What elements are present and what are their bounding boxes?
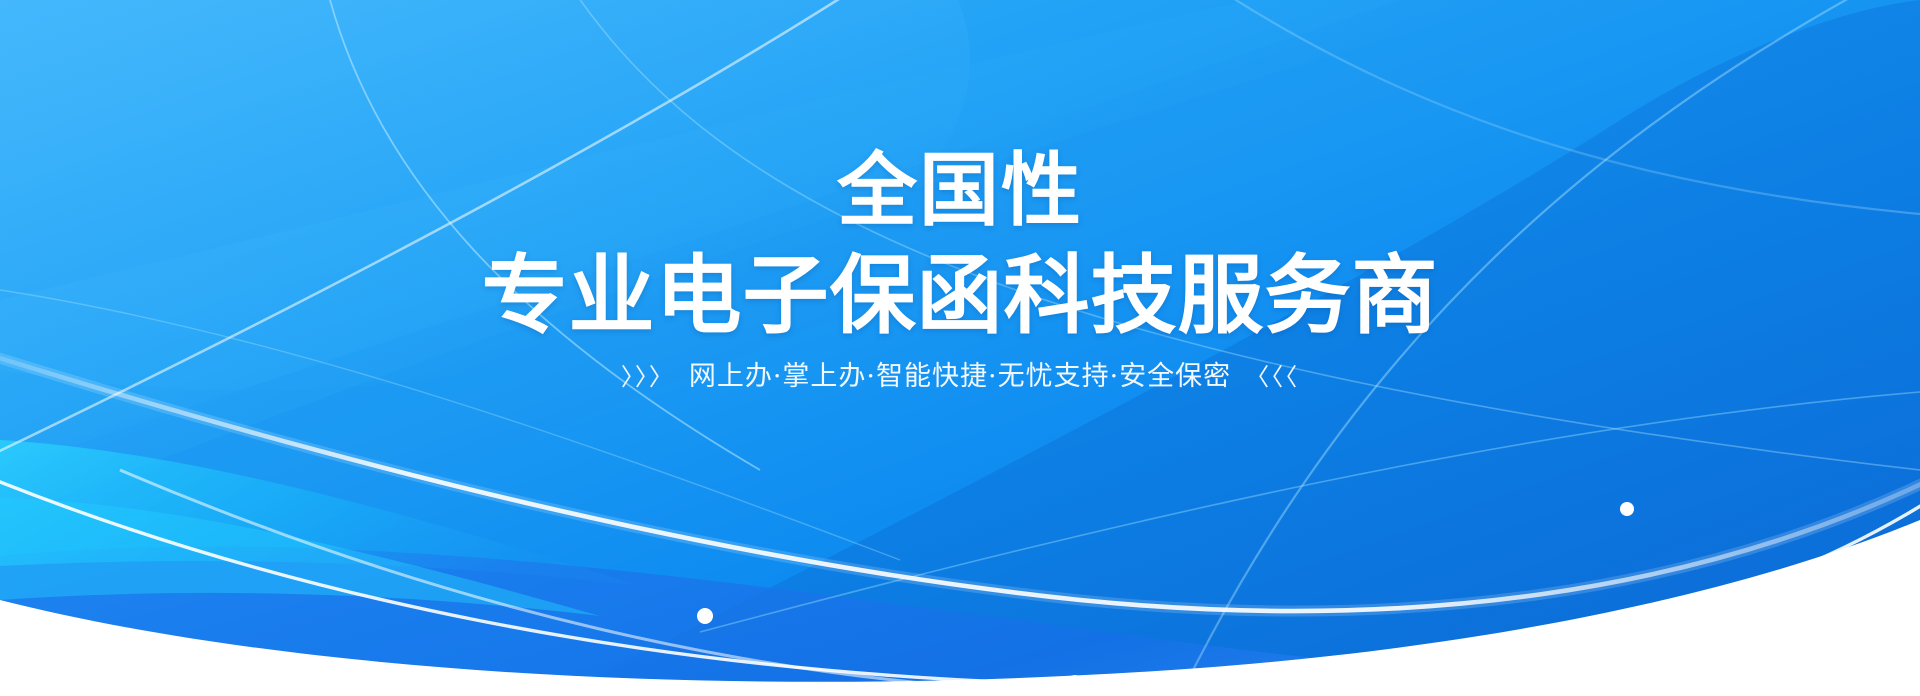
curve-dot-2 [1064,675,1086,696]
hero-banner: 全国性 专业电子保函科技服务商 〉〉〉网上办·掌上办·智能快捷·无忧支持·安全保… [0,0,1920,696]
curve-dot-1 [697,608,713,624]
curve-dot-4 [1551,639,1569,657]
curve-dot-3 [1620,502,1634,516]
banner-background-art [0,0,1920,696]
